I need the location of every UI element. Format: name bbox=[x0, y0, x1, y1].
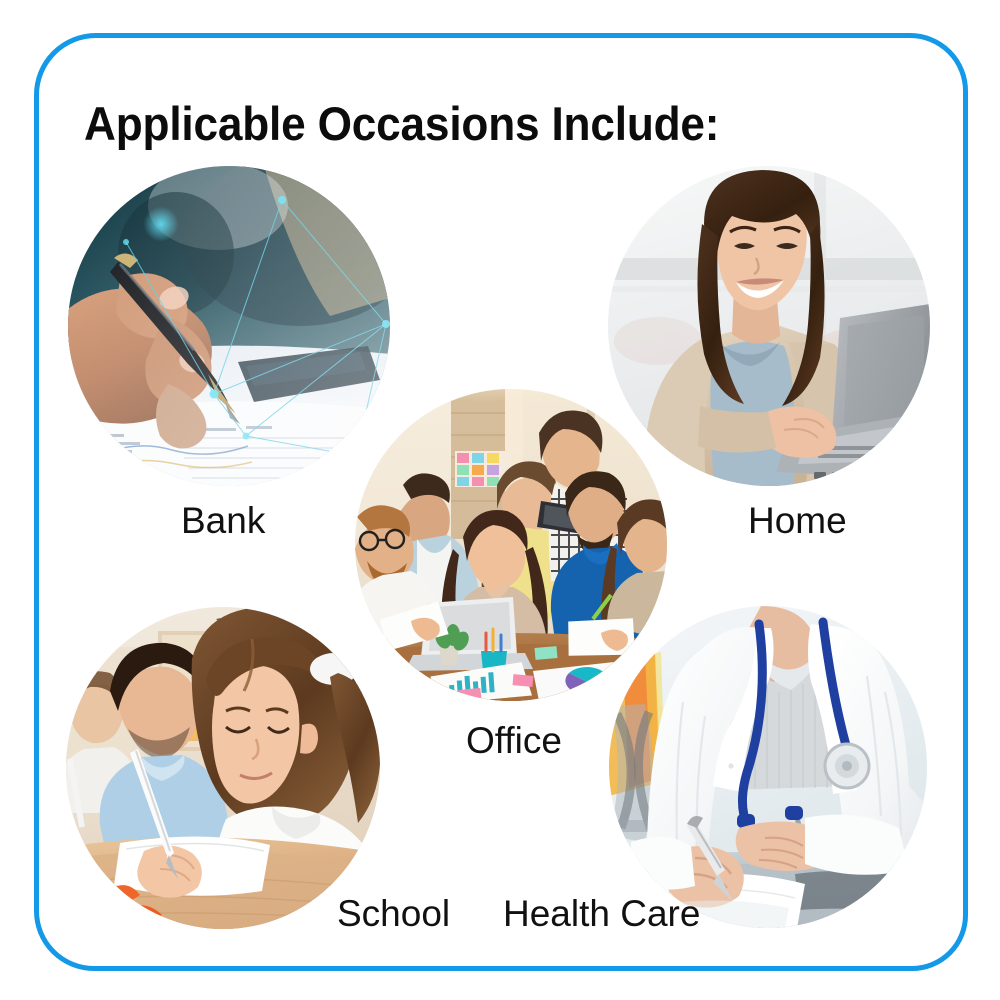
occasion-label-school: School bbox=[337, 893, 450, 935]
bank-photo bbox=[68, 166, 390, 486]
page-title: Applicable Occasions Include: bbox=[84, 96, 719, 151]
occasion-label-health-care: Health Care bbox=[503, 893, 700, 935]
occasion-label-home: Home bbox=[748, 500, 847, 542]
occasion-label-bank: Bank bbox=[181, 500, 265, 542]
health-care-photo bbox=[609, 606, 927, 928]
poster-canvas: Bank bbox=[0, 0, 1000, 1000]
occasion-tile-school bbox=[66, 607, 380, 929]
occasion-tile-bank bbox=[68, 166, 390, 486]
occasion-tile-health-care bbox=[609, 606, 927, 928]
occasion-label-office: Office bbox=[466, 720, 562, 762]
school-photo bbox=[66, 607, 380, 929]
